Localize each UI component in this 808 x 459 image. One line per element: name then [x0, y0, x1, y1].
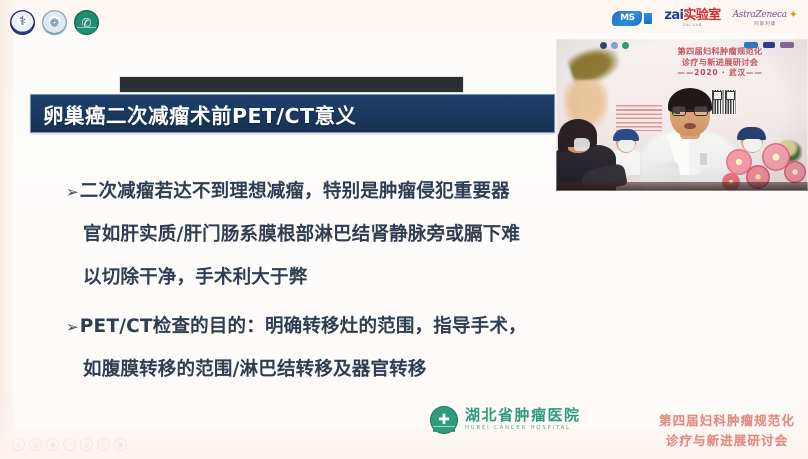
sponsor-zailab-subtitle: ZAI LAB — [683, 23, 702, 27]
institution-logo-3-glyph: ✆ — [81, 17, 91, 29]
sponsor-zailab-word-dark: zai — [664, 8, 683, 23]
sponsor-astrazeneca-logo: AstraZeneca ✦ 阿斯利康 — [733, 10, 798, 27]
bullet-line: 如腹膜转移的范围/淋巴结转移及器官转移 — [66, 348, 566, 391]
bullet-line: 官如肝实质/肝门肠系膜根部淋巴结肾静脉旁或膈下难 — [66, 213, 566, 256]
sponsor-astrazeneca-mark: AstraZeneca ✦ — [733, 10, 798, 21]
sponsor-mingsheng-mark: MS — [612, 11, 652, 26]
sponsor-logo-strip: MS zai实验室 ZAI LAB AstraZeneca ✦ 阿斯利康 — [612, 9, 798, 27]
foreground-attendee — [556, 119, 618, 191]
bullet-line-text: 如腹膜转移的范围/淋巴结转移及器官转移 — [83, 348, 427, 391]
backdrop-logo-icon — [622, 42, 629, 49]
backdrop-sponsor-icon — [744, 42, 758, 48]
glasses-lens-left — [672, 106, 686, 116]
bullet-arrow-icon: ➢ — [66, 171, 79, 214]
table-edge — [556, 182, 808, 191]
conference-title: 第四届妇科肿瘤规范化 诊疗与新进展研讨会 — [659, 411, 795, 450]
bullet-line-text: PET/CT检查的目的：明确转移灶的范围，指导手术， — [80, 305, 527, 348]
sponsor-zailab-logo: zai实验室 ZAI LAB — [664, 9, 720, 27]
watermark-icon: ◉ — [114, 438, 127, 451]
conference-title-line-1: 第四届妇科肿瘤规范化 — [659, 411, 795, 430]
backdrop-logo-row-right — [744, 42, 794, 48]
sponsor-zailab-wordmark: zai实验室 — [664, 9, 720, 22]
screenshot-root: ⚕ ❁ ✆ MS zai实验室 ZAI LAB AstraZeneca ✦ — [0, 0, 808, 459]
backdrop-banner-title: 第四届妇科肿瘤规范化 诊疗与新进展研讨会 ——2020 · 武汉—— — [668, 46, 772, 78]
bullet-line: 以切除干净，手术利大于弊 — [66, 256, 566, 299]
backdrop-banner-line-2: 诊疗与新进展研讨会 — [668, 57, 772, 68]
watermark-icon: ◌ — [63, 438, 76, 451]
speaker-mouth — [684, 123, 696, 129]
watermark-icon: ◉ — [46, 438, 59, 451]
hospital-mark-icon: ✚ — [430, 406, 458, 434]
hospital-name-en: HUBEI CANCER HOSPITAL — [465, 426, 581, 431]
hospital-mark-glyph: ✚ — [438, 413, 450, 427]
bullet-line-text: 二次减瘤若达不到理想减瘤，特别是肿瘤侵犯重要器 — [80, 170, 510, 213]
institution-logo-2-icon: ❁ — [42, 10, 67, 35]
backdrop-logo-icon — [600, 42, 607, 49]
bullet-line-text: 官如肝实质/肝门肠系膜根部淋巴结肾静脉旁或膈下难 — [83, 213, 520, 256]
institution-logo-2-glyph: ❁ — [49, 17, 59, 29]
top-left-logo-strip: ⚕ ❁ ✆ — [10, 10, 99, 35]
watermark-icon: ◍ — [80, 438, 93, 451]
slide-title: 卵巢癌二次减瘤术前PET/CT意义 — [31, 99, 357, 129]
glasses-lens-right — [694, 106, 708, 116]
conference-title-line-2: 诊疗与新进展研讨会 — [659, 431, 795, 450]
bullet-line: ➢ 二次减瘤若达不到理想减瘤，特别是肿瘤侵犯重要器 — [66, 170, 566, 213]
flower-bloom — [784, 161, 806, 183]
backdrop-logo-row-left — [600, 42, 629, 49]
sponsor-mingsheng-square-icon — [644, 13, 652, 24]
attendee-face-mask — [574, 138, 590, 151]
backdrop-logo-icon — [611, 42, 618, 49]
sponsor-astrazeneca-flash-icon: ✦ — [789, 10, 798, 21]
watermark-icon-row: ◎ ◍ ◉ ◌ ◍ ◎ ◉ — [12, 438, 127, 451]
bullet-line-text: 以切除干净，手术利大于弊 — [83, 256, 307, 299]
watermark-icon: ◎ — [12, 438, 25, 451]
sponsor-astrazeneca-wordmark: AstraZeneca — [733, 11, 787, 20]
empty-text-placeholder-bar — [119, 76, 464, 93]
institution-logo-3-icon: ✆ — [74, 10, 99, 35]
slide-title-bar: 卵巢癌二次减瘤术前PET/CT意义 — [30, 94, 555, 133]
backdrop-sponsor-icon — [763, 42, 775, 48]
speaker-id-badge — [700, 153, 707, 165]
glasses-bridge — [687, 110, 693, 111]
backdrop-sponsor-icon — [780, 42, 794, 48]
sponsor-mingsheng-badge: MS — [612, 11, 642, 26]
slide-body: ➢ 二次减瘤若达不到理想减瘤，特别是肿瘤侵犯重要器 官如肝实质/肝门肠系膜根部淋… — [66, 170, 566, 391]
backdrop-banner-line-3: ——2020 · 武汉—— — [668, 68, 772, 78]
institution-logo-1-glyph: ⚕ — [19, 15, 26, 28]
speaker-video-tile[interactable]: 第四届妇科肿瘤规范化 诊疗与新进展研讨会 ——2020 · 武汉—— — [556, 39, 808, 191]
watermark-icon: ◎ — [97, 438, 110, 451]
sponsor-astrazeneca-subtitle: 阿斯利康 — [754, 22, 776, 27]
bullet-arrow-icon: ➢ — [66, 306, 79, 349]
institution-logo-1-icon: ⚕ — [10, 10, 35, 35]
bullet-line: ➢ PET/CT检查的目的：明确转移灶的范围，指导手术， — [66, 305, 566, 348]
hospital-logo: ✚ 湖北省肿瘤医院 HUBEI CANCER HOSPITAL — [430, 406, 581, 434]
sponsor-mingsheng-logo: MS — [612, 11, 652, 26]
sponsor-zailab-word-red: 实验室 — [683, 8, 720, 23]
hospital-name-cn: 湖北省肿瘤医院 — [465, 408, 581, 424]
watermark-icon: ◍ — [29, 438, 42, 451]
speaker-glasses-icon — [671, 106, 709, 117]
hospital-name-block: 湖北省肿瘤医院 HUBEI CANCER HOSPITAL — [465, 408, 581, 431]
